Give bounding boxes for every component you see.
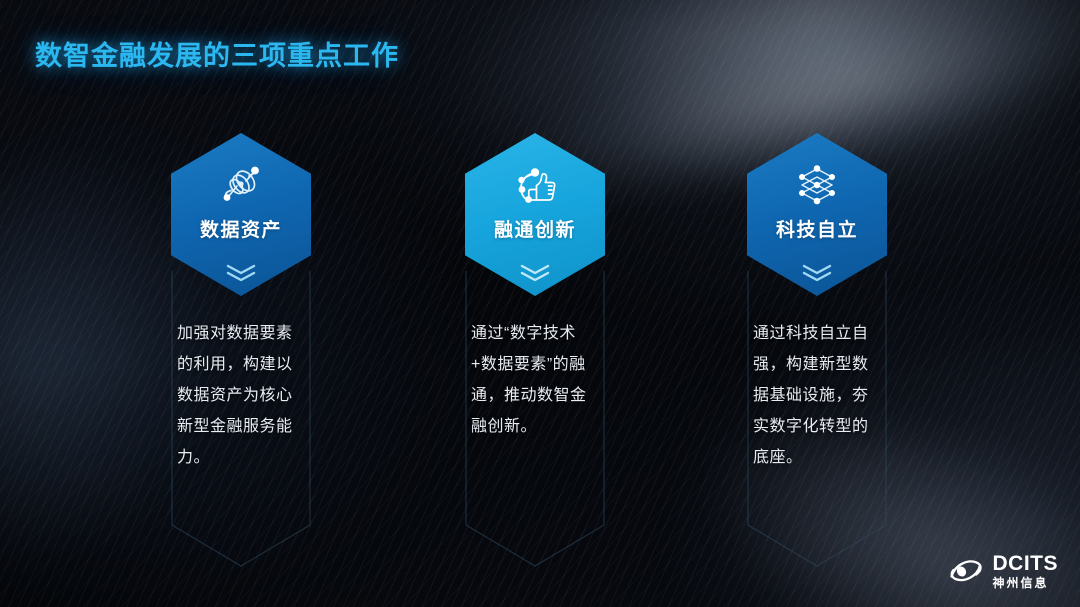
double-chevron-down-icon: [800, 262, 834, 282]
company-logo: DCITS 神州信息: [948, 553, 1059, 589]
hexagon-badge-data-asset[interactable]: 数据资产: [171, 133, 311, 296]
layered-network-icon: [791, 159, 843, 209]
hexagon-label: 科技自立: [776, 215, 858, 242]
hexagon-badge-tech-independence[interactable]: 科技自立: [747, 133, 887, 296]
card-description: 加强对数据要素的利用，构建以数据资产为核心新型金融服务能力。: [177, 318, 305, 473]
cards-container: 数据资产 加强对数据要素的利用，构建以数据资产为核心新型金融服务能力。: [0, 0, 1080, 607]
double-chevron-down-icon: [518, 262, 552, 282]
hexagon-badge-integration-innovation[interactable]: 融通创新: [465, 133, 605, 296]
dcits-swoosh-icon: [948, 556, 984, 586]
hexagon-label: 融通创新: [494, 215, 576, 242]
presentation-slide: 数智金融发展的三项重点工作: [0, 0, 1080, 607]
logo-text-cn: 神州信息: [993, 577, 1059, 589]
logo-text: DCITS 神州信息: [993, 553, 1059, 589]
card-description: 通过“数字技术+数据要素”的融通，推动数智金融创新。: [471, 318, 599, 442]
double-chevron-down-icon: [224, 262, 258, 282]
data-coil-icon: [215, 159, 267, 209]
logo-text-en: DCITS: [993, 553, 1059, 574]
thumbs-up-network-icon: [509, 159, 561, 209]
hexagon-label: 数据资产: [200, 215, 282, 242]
card-description: 通过科技自立自强，构建新型数据基础设施，夯实数字化转型的底座。: [753, 318, 881, 473]
